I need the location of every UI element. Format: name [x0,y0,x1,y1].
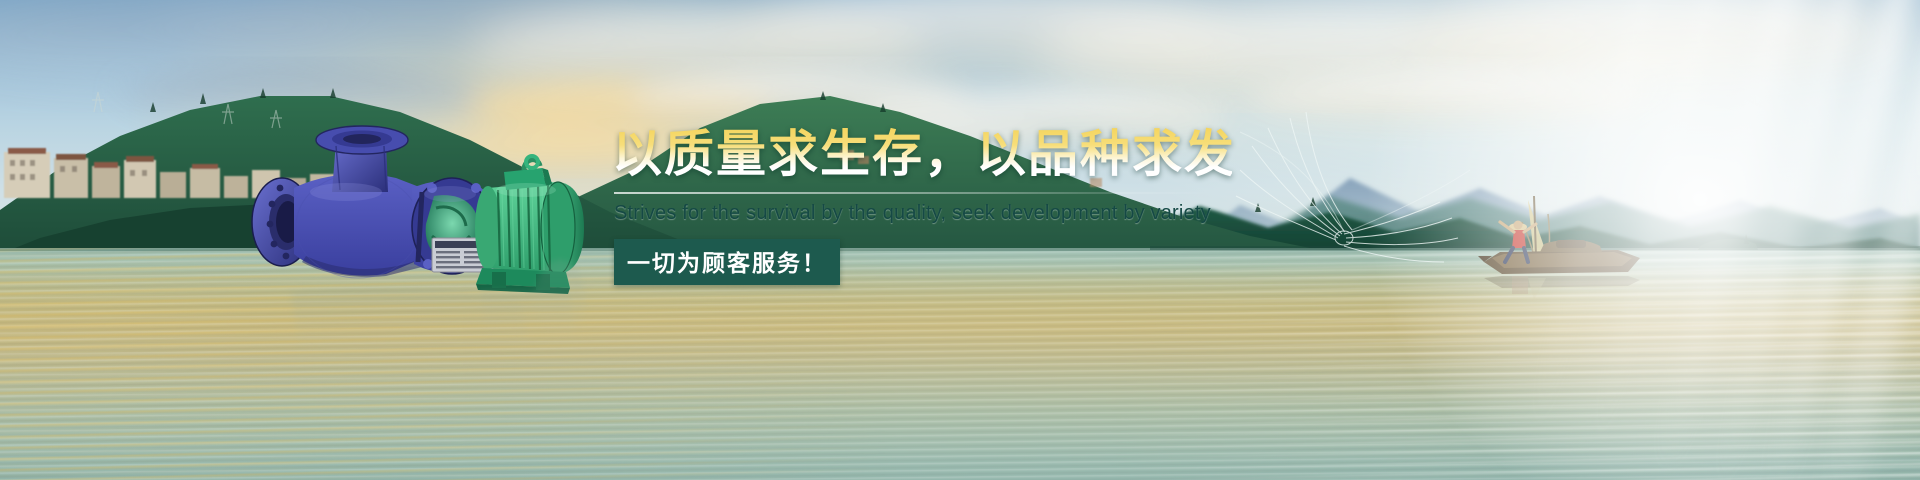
hero-banner: 以质量求生存，以品种求发展 Strives for the survival b… [0,0,1920,480]
title-divider [614,192,1214,194]
service-badge: 一切为顾客服务！ [614,239,840,285]
banner-title: 以质量求生存，以品种求发展 [612,126,1232,182]
banner-text-block: 以质量求生存，以品种求发展 Strives for the survival b… [612,126,1232,285]
banner-subtitle: Strives for the survival by the quality,… [612,202,1232,225]
